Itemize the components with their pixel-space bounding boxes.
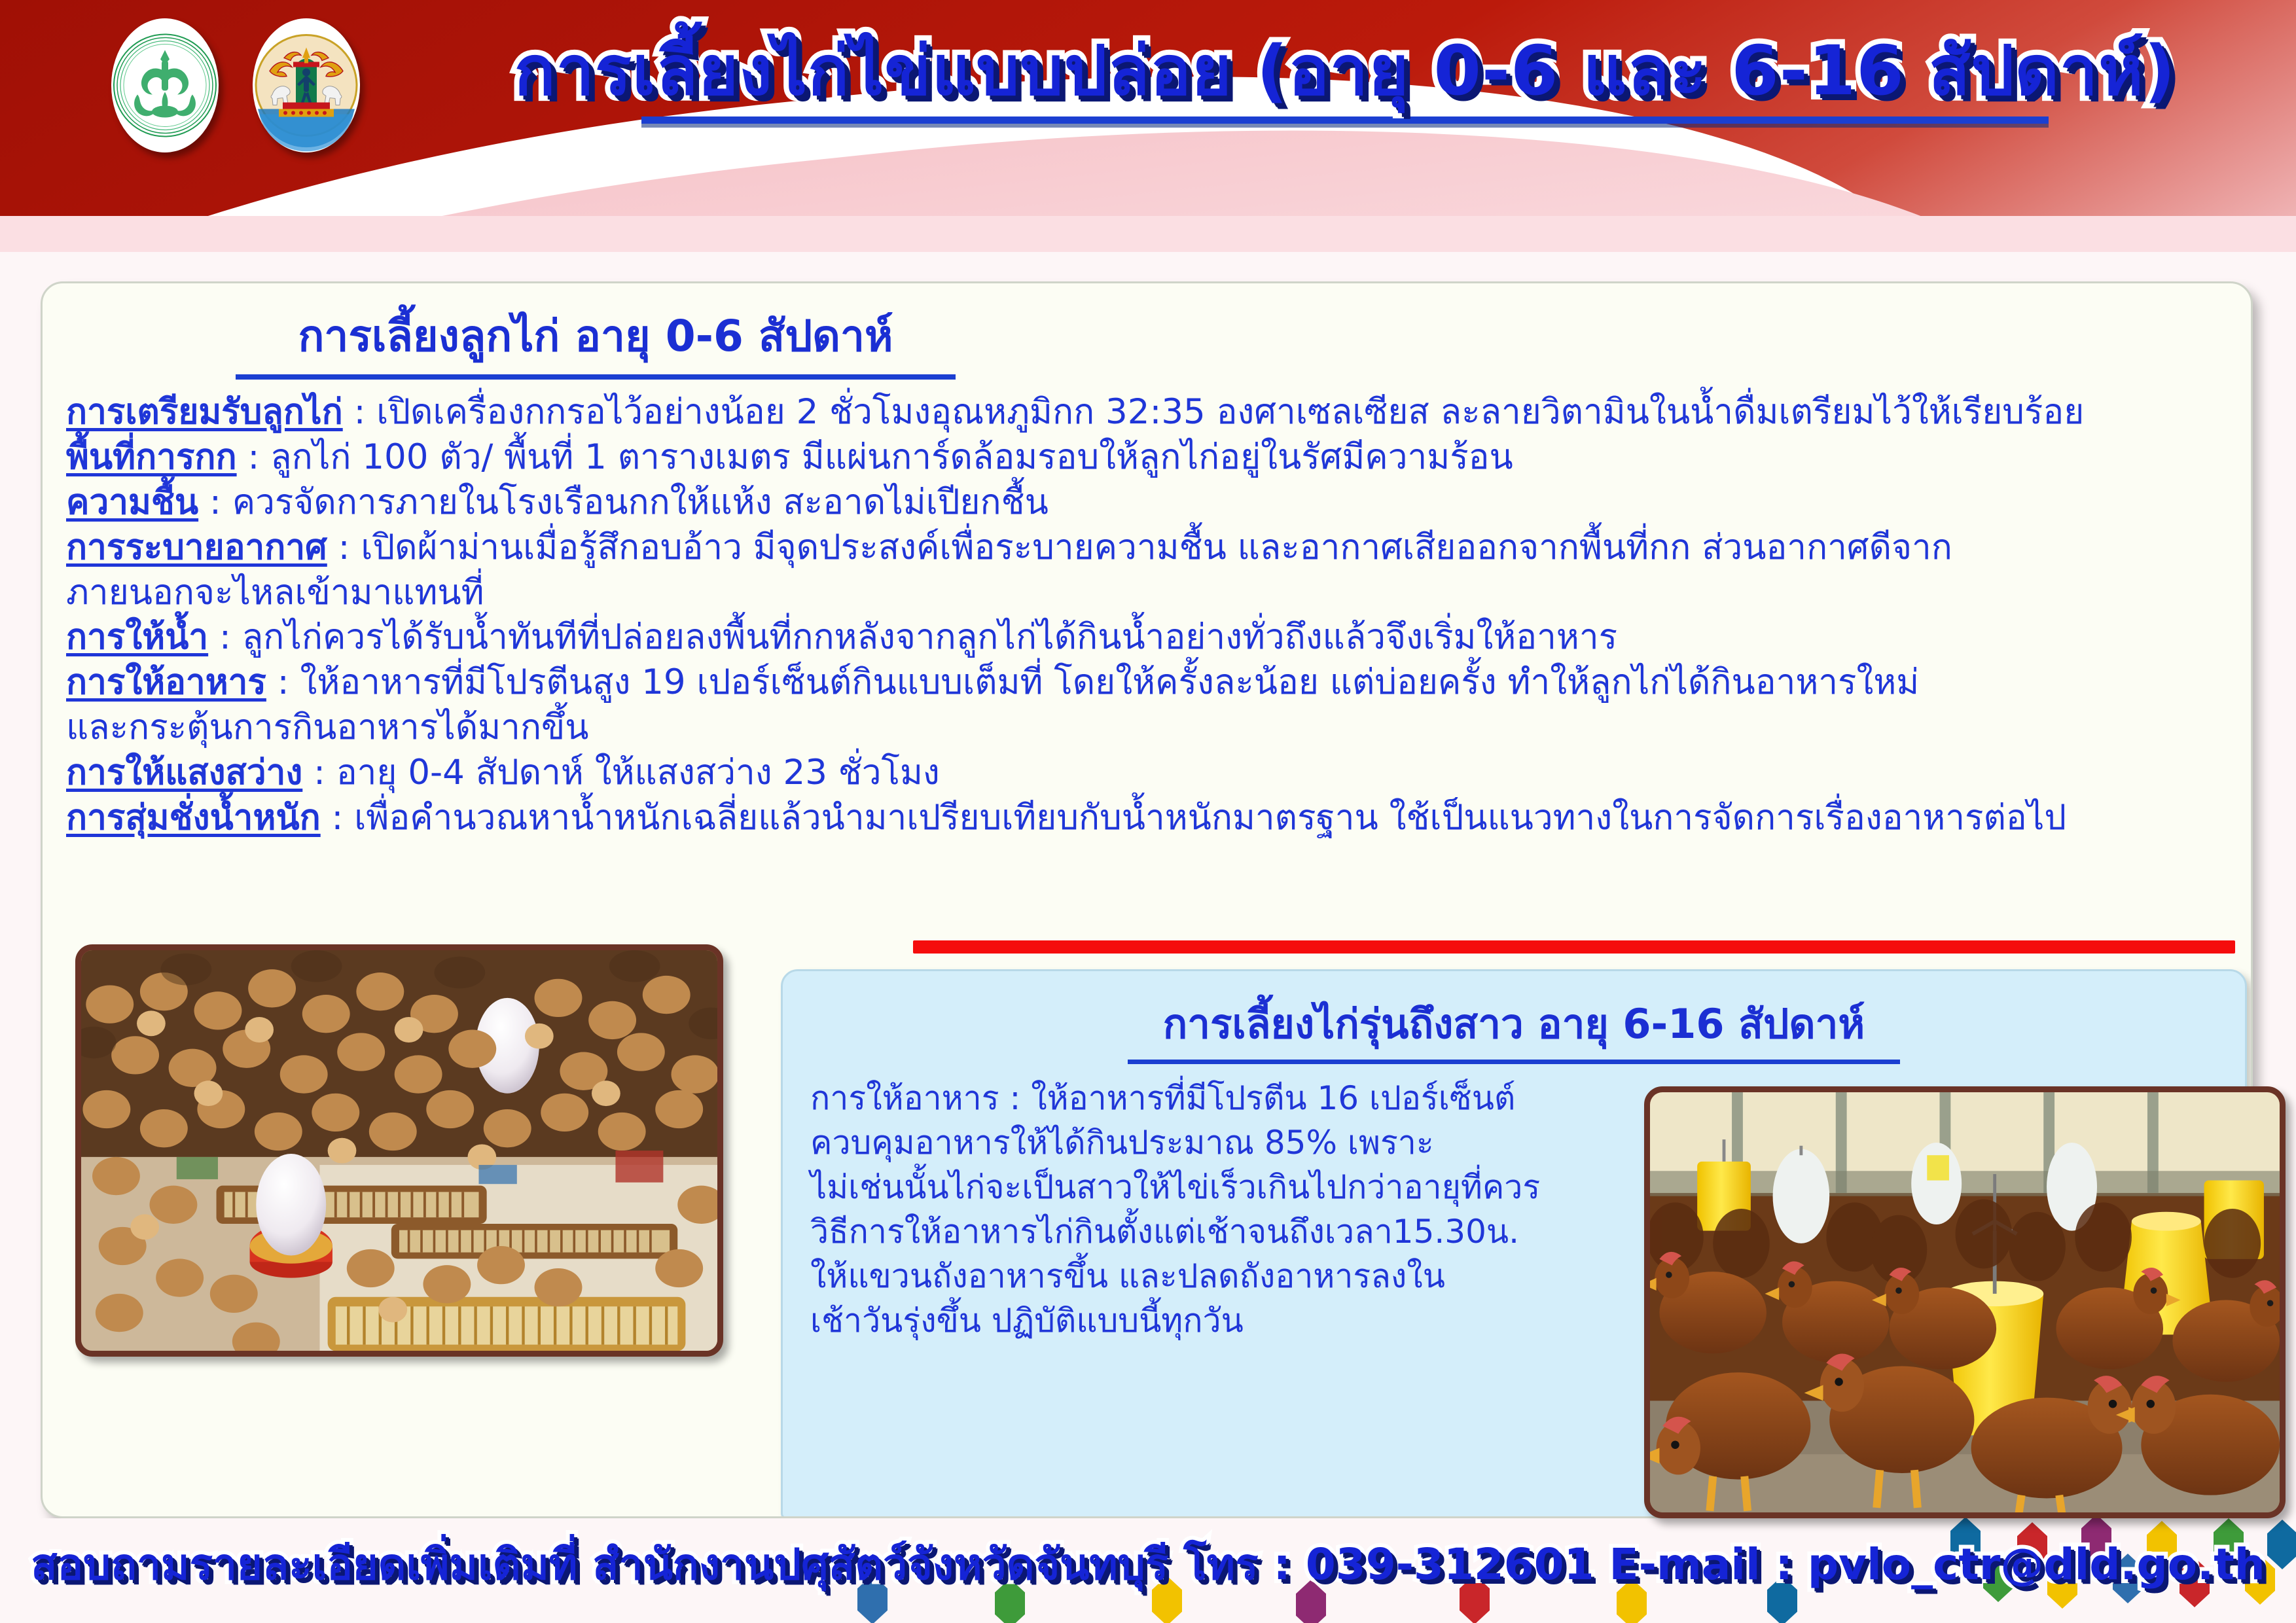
item-key: พื้นที่การกก [66, 437, 237, 477]
title-underline-rule [641, 116, 2049, 124]
section1-heading-wrap: การเลี้ยงลูกไก่ อายุ 0-6 สัปดาห์ [43, 302, 1149, 380]
item-text: ลูกไก่ 100 ตัว/ พื้นที่ 1 ตารางเมตร มีแผ… [270, 437, 1513, 477]
item-text: อายุ 0-4 สัปดาห์ ให้แสงสว่าง 23 ชั่วโมง [336, 753, 940, 793]
item-key: การให้อาหาร [66, 662, 266, 702]
poster-title-block: การเลี้ยงไก่ไข่แบบปล่อย (อายุ 0-6 และ 6-… [419, 34, 2271, 124]
list-item: การระบายอากาศ : เปิดผ้าม่านเมื่อรู้สึกอบ… [66, 526, 2235, 571]
section2-heading-wrap: การเลี้ยงไก่รุ่นถึงสาว อายุ 6-16 สัปดาห์ [783, 992, 2245, 1064]
section1-heading: การเลี้ยงลูกไก่ อายุ 0-6 สัปดาห์ [298, 311, 893, 361]
item-text: เปิดเครื่องกกรอไว้อย่างน้อย 2 ชั่วโมงอุณ… [376, 392, 2084, 432]
list-item-continuation: ภายนอกจะไหลเข้ามาแทนที่ [66, 571, 2235, 616]
section2-heading-underline [1128, 1060, 1900, 1064]
section1-item-list: การเตรียมรับลูกไก่ : เปิดเครื่องกกรอไว้อ… [43, 390, 2251, 841]
item-key: การให้แสงสว่าง [66, 753, 302, 793]
item-sep: : [208, 617, 242, 657]
list-item: การเตรียมรับลูกไก่ : เปิดเครื่องกกรอไว้อ… [66, 390, 2235, 435]
poster-root: การเลี้ยงไก่ไข่แบบปล่อย (อายุ 0-6 และ 6-… [0, 0, 2296, 1623]
footer-contact-text: สอบถามรายละเอียดเพิ่มเติมที่ สำนักงานปศุ… [0, 1530, 2296, 1599]
item-sep: : [198, 482, 232, 522]
item-key: ความชื้น [66, 482, 198, 522]
page-title: การเลี้ยงไก่ไข่แบบปล่อย (อายุ 0-6 และ 6-… [419, 34, 2271, 107]
item-key: การให้น้ำ [66, 617, 208, 657]
item-sep: : [266, 662, 300, 702]
item-text: ลูกไก่ควรได้รับน้ำทันทีที่ปล่อยลงพื้นที่… [242, 617, 1617, 657]
baby-chicks-brooder-photo [75, 944, 723, 1357]
dld-green-seal-icon [111, 18, 219, 152]
section1-heading-underline [236, 374, 956, 380]
item-text: ควรจัดการภายในโรงเรือนกกให้แห้ง สะอาดไม่… [232, 482, 1049, 522]
item-sep: : [302, 753, 336, 793]
list-item: การให้แสงสว่าง : อายุ 0-4 สัปดาห์ ให้แสง… [66, 751, 2235, 796]
item-sep: : [321, 798, 355, 838]
item-sep: : [237, 437, 271, 477]
list-item: ความชื้น : ควรจัดการภายในโรงเรือนกกให้แห… [66, 480, 2235, 526]
item-key: การเตรียมรับลูกไก่ [66, 392, 343, 432]
red-divider-rule [913, 940, 2235, 954]
list-item: การให้น้ำ : ลูกไก่ควรได้รับน้ำทันทีที่ปล… [66, 615, 2235, 660]
item-text: เพื่อคำนวณหาน้ำหนักเฉลี่ยแล้วนำมาเปรียบเ… [354, 798, 2066, 838]
header-bottom-fill [0, 216, 2296, 252]
item-sep: : [343, 392, 377, 432]
item-key: การระบายอากาศ [66, 527, 327, 567]
footer-bar: สอบถามรายละเอียดเพิ่มเติมที่ สำนักงานปศุ… [0, 1518, 2296, 1623]
list-item: พื้นที่การกก : ลูกไก่ 100 ตัว/ พื้นที่ 1… [66, 435, 2235, 480]
item-key: การสุ่มชั่งน้ำหนัก [66, 798, 321, 838]
list-item: การให้อาหาร : ให้อาหารที่มีโปรตีนสูง 19 … [66, 660, 2235, 705]
list-item: การสุ่มชั่งน้ำหนัก : เพื่อคำนวณหาน้ำหนัก… [66, 796, 2235, 841]
item-text: เปิดผ้าม่านเมื่อรู้สึกอบอ้าว มีจุดประสงค… [361, 527, 1952, 567]
item-text: ให้อาหารที่มีโปรตีนสูง 19 เปอร์เซ็นต์กิน… [300, 662, 1919, 702]
chanthaburi-province-seal-icon [253, 18, 360, 152]
item-sep: : [327, 527, 361, 567]
brown-laying-hens-photo [1644, 1086, 2286, 1518]
section2-heading: การเลี้ยงไก่รุ่นถึงสาว อายุ 6-16 สัปดาห์ [1163, 1000, 1865, 1048]
list-item-continuation: และกระตุ้นการกินอาหารได้มากขึ้น [66, 705, 2235, 751]
